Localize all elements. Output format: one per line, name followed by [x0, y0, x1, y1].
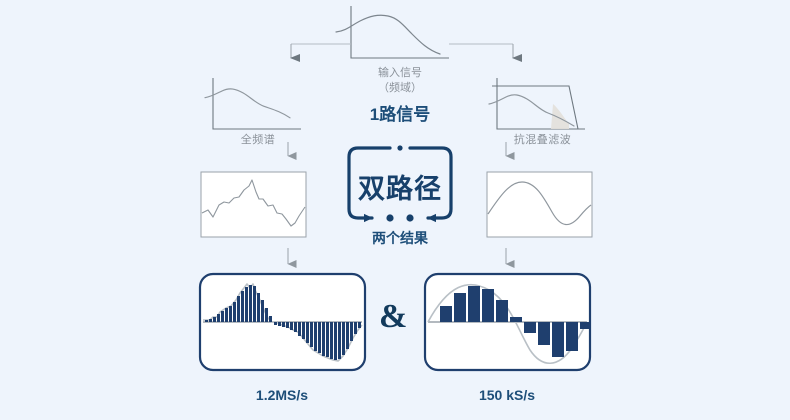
branch-down-arrows-lower: [288, 248, 506, 264]
antialias-filter-chart: [489, 78, 585, 129]
input-signal-caption-line1: 输入信号: [340, 66, 460, 81]
diagram-canvas: 输入信号 （频域） 1路信号 全频谱 抗混叠滤波 双路径 两个结果 & 1.2M…: [0, 0, 790, 420]
low-rate-label: 150 kS/s: [447, 387, 567, 403]
result-dot-left: [386, 214, 393, 221]
result-high-rate-panel: [200, 274, 365, 370]
time-domain-sine-panel: [487, 172, 592, 237]
badge-top-dot: [397, 145, 402, 150]
two-results-label: 两个结果: [350, 228, 450, 248]
input-count-label: 1路信号: [340, 100, 460, 125]
result-low-rate-panel: [425, 274, 590, 370]
time-domain-noisy-panel: [201, 172, 306, 237]
input-signal-caption-line2: （频域）: [340, 81, 460, 96]
full-spectrum-caption: 全频谱: [218, 131, 298, 147]
high-rate-label: 1.2MS/s: [222, 387, 342, 403]
diagram-vector-layer: [0, 0, 790, 420]
input-signal-caption: 输入信号 （频域）: [340, 66, 460, 96]
dual-path-badge-label: 双路径: [350, 167, 450, 206]
ampersand-separator: &: [379, 298, 407, 336]
antialias-filter-caption: 抗混叠滤波: [495, 131, 590, 147]
full-spectrum-chart: [205, 78, 301, 129]
result-dot-right: [406, 214, 413, 221]
signal-splitter-connector: [291, 44, 513, 58]
input-spectrum-chart: [336, 6, 449, 58]
branch-down-arrows-upper: [288, 142, 506, 156]
